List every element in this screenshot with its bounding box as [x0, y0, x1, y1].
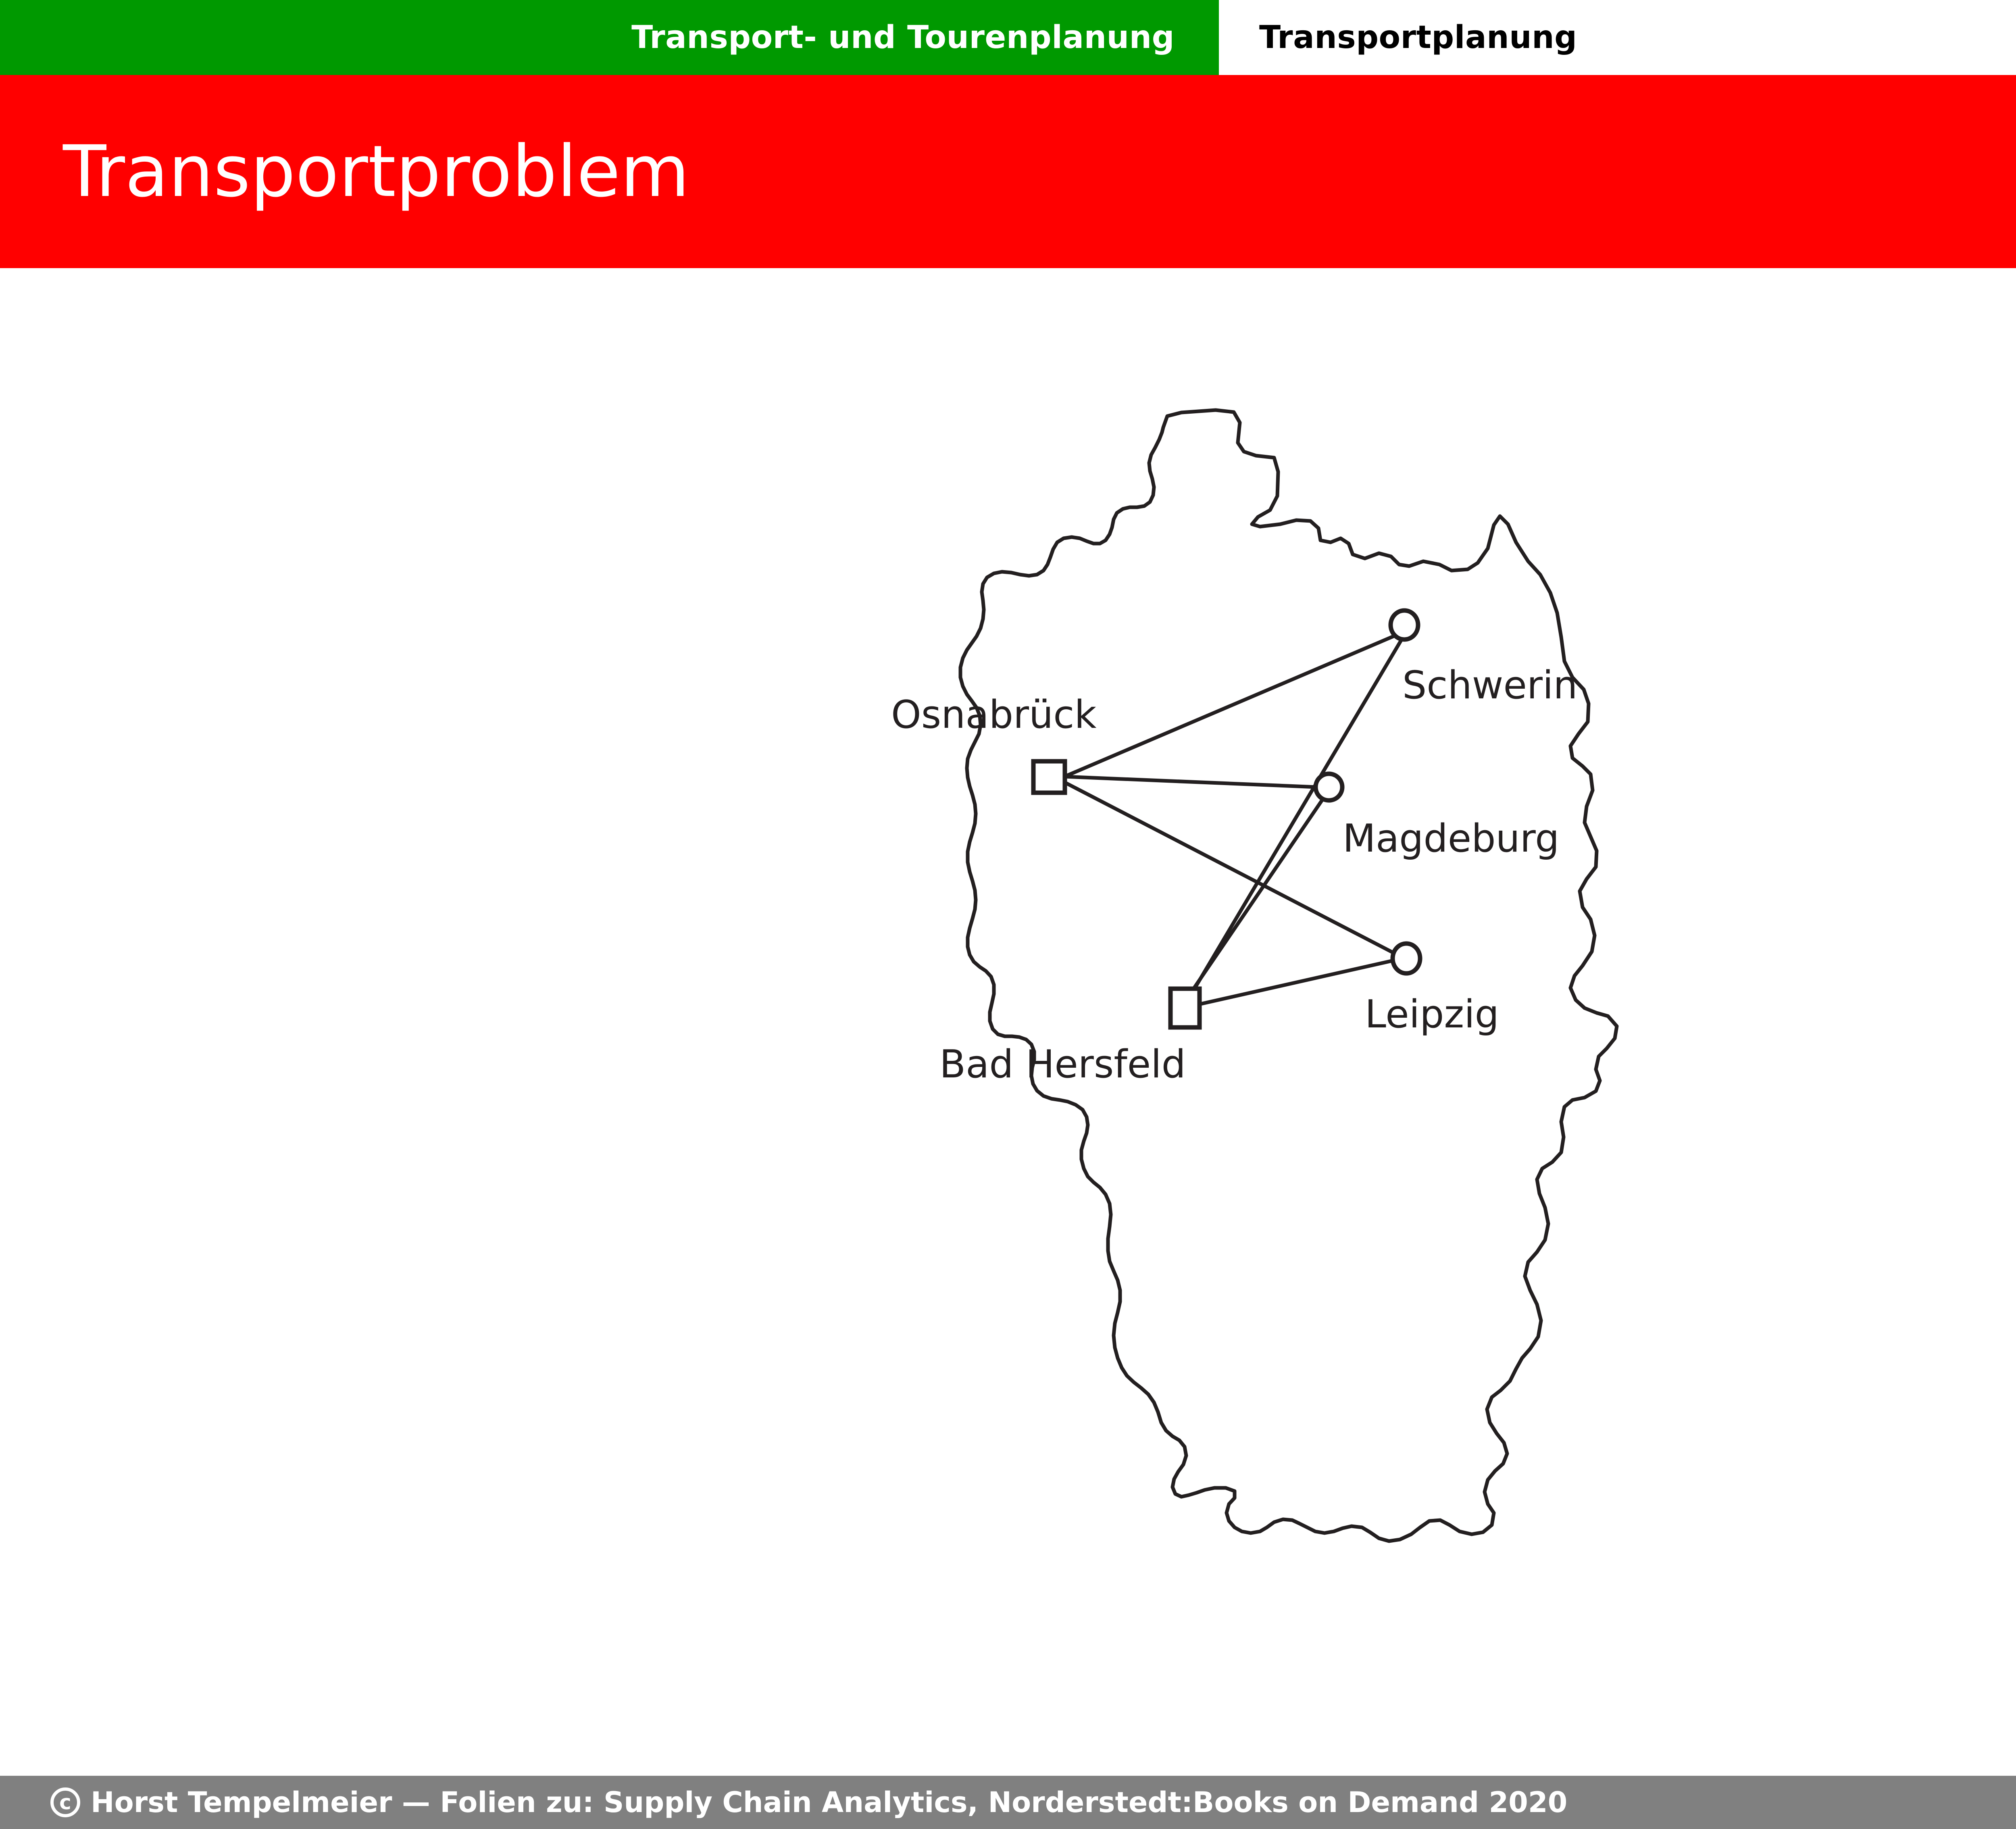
page-title: Transportproblem: [0, 136, 689, 207]
footer-bar: c Horst Tempelmeier — Folien zu: Supply …: [0, 1776, 2016, 1829]
edge-badhersfeld-magdeburg: [1189, 798, 1323, 996]
tab-transport-und-tourenplanung[interactable]: Transport- und Tourenplanung: [0, 0, 1219, 75]
city-label-magdeburg: Magdeburg: [1343, 817, 1559, 861]
header-navbar: Transport- und Tourenplanung Transportpl…: [0, 0, 2016, 75]
node-marker-leipzig[interactable]: [1393, 944, 1420, 973]
supply-node-markers: [1033, 761, 1200, 1027]
edge-osnabrueck-magdeburg: [1064, 777, 1316, 787]
node-marker-osnabrueck[interactable]: [1033, 761, 1065, 793]
node-marker-schwerin[interactable]: [1391, 610, 1418, 640]
node-marker-bad-hersfeld[interactable]: [1170, 989, 1200, 1027]
germany-transport-network-map: Osnabrück Bad Hersfeld Schwerin Magdebur…: [718, 397, 1766, 1587]
edge-osnabrueck-schwerin: [1064, 636, 1393, 777]
tab-transportplanung[interactable]: Transportplanung: [1219, 0, 2016, 75]
footer-credit-group: c Horst Tempelmeier — Folien zu: Supply …: [0, 1786, 1567, 1819]
slide-body: Osnabrück Bad Hersfeld Schwerin Magdebur…: [0, 268, 2016, 1776]
slide-root: Transport- und Tourenplanung Transportpl…: [0, 0, 2016, 1829]
edge-badhersfeld-leipzig: [1197, 960, 1393, 1005]
germany-outline: [960, 410, 1617, 1541]
title-bar: Transportproblem: [0, 75, 2016, 268]
city-label-schwerin: Schwerin: [1402, 663, 1578, 708]
city-label-bad-hersfeld: Bad Hersfeld: [939, 1042, 1186, 1087]
node-marker-magdeburg[interactable]: [1316, 774, 1342, 800]
footer-credit-text: Horst Tempelmeier — Folien zu: Supply Ch…: [91, 1786, 1567, 1819]
city-label-leipzig: Leipzig: [1365, 992, 1499, 1037]
copyright-icon: c: [50, 1787, 80, 1817]
city-label-osnabrueck: Osnabrück: [891, 693, 1097, 737]
